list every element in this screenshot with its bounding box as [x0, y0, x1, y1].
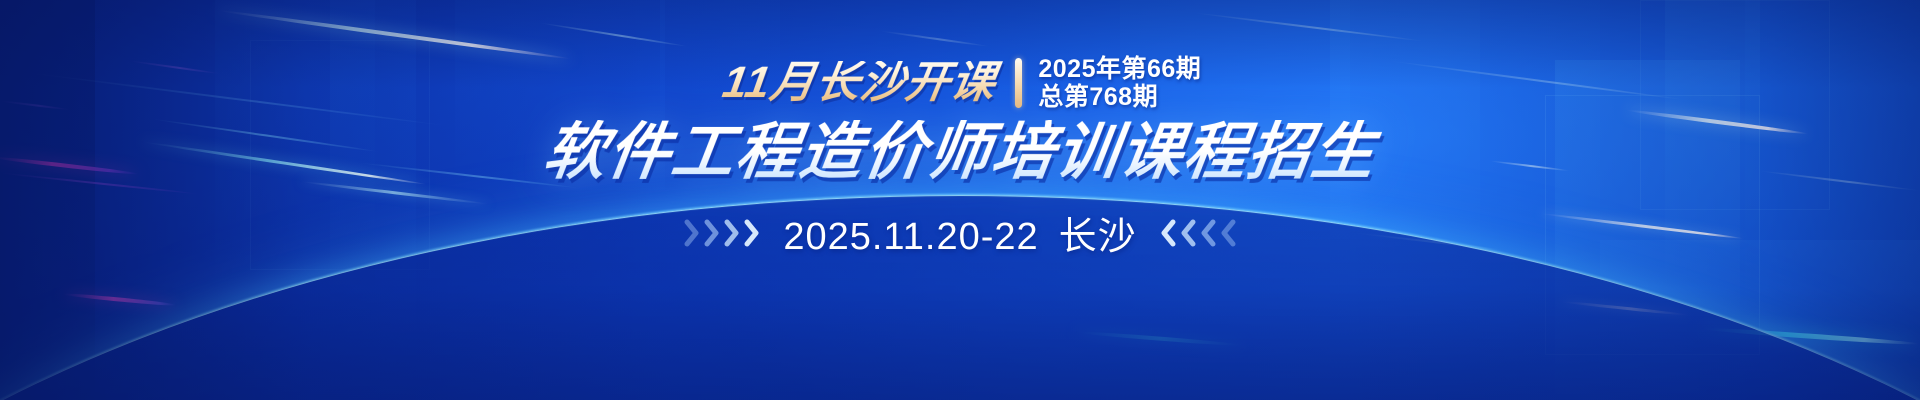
- banner-headline: 软件工程造价师培训课程招生: [533, 120, 1386, 187]
- chevron-left-icon: [1219, 218, 1236, 248]
- date-location-row: 2025.11.20-22长沙: [684, 209, 1235, 257]
- period-year-issue: 2025年第66期: [1038, 55, 1201, 83]
- chevron-left-icon: [1199, 218, 1216, 248]
- chevron-right-icon: [744, 218, 761, 248]
- kicker-row: 11月长沙开课 2025年第66期 总第768期: [719, 52, 1202, 114]
- date-location-text: 2025.11.20-22长沙: [783, 205, 1136, 260]
- event-city: 长沙: [1059, 216, 1137, 258]
- left-chevron-group: [684, 218, 761, 248]
- chevron-right-icon: [684, 218, 701, 248]
- chevron-right-icon: [724, 218, 741, 248]
- chevron-left-icon: [1179, 218, 1196, 248]
- period-total-issue: 总第768期: [1038, 83, 1201, 111]
- right-chevron-group: [1159, 218, 1236, 248]
- course-promo-banner: 11月长沙开课 2025年第66期 总第768期 软件工程造价师培训课程招生: [0, 0, 1920, 400]
- period-block: 2025年第66期 总第768期: [1038, 55, 1201, 112]
- chevron-left-icon: [1159, 218, 1176, 248]
- event-date: 2025.11.20-22: [783, 216, 1038, 258]
- kicker-separator-bar: [1015, 58, 1022, 108]
- banner-content: 11月长沙开课 2025年第66期 总第768期 软件工程造价师培训课程招生: [0, 0, 1920, 400]
- kicker-gold-text: 11月长沙开课: [715, 61, 1003, 105]
- chevron-right-icon: [704, 218, 721, 248]
